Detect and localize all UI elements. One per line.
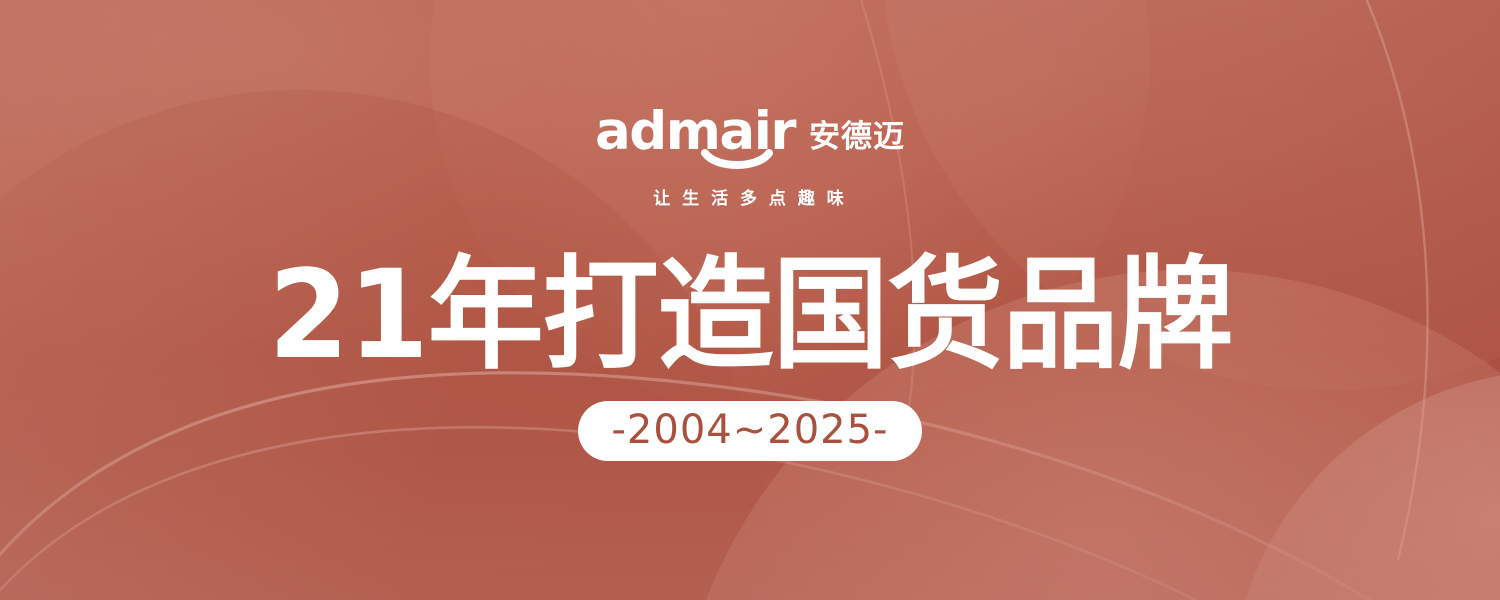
page-title: 21年打造国货品牌 — [268, 251, 1232, 379]
logo-wordmark-group: admair — [595, 105, 795, 158]
smile-swoosh-icon — [700, 149, 774, 173]
tagline: 让 生 活 多 点 趣 味 — [653, 184, 847, 209]
brand-logo: admair 安德迈 — [595, 105, 905, 158]
logo-cn-name: 安德迈 — [809, 122, 905, 158]
year-range-badge: -2004~2025- — [578, 401, 923, 461]
banner-content: admair 安德迈 让 生 活 多 点 趣 味 21年打造国货品牌 -2004… — [0, 0, 1500, 600]
promo-banner: admair 安德迈 让 生 活 多 点 趣 味 21年打造国货品牌 -2004… — [0, 0, 1500, 600]
year-range-text: -2004~2025- — [612, 410, 889, 450]
